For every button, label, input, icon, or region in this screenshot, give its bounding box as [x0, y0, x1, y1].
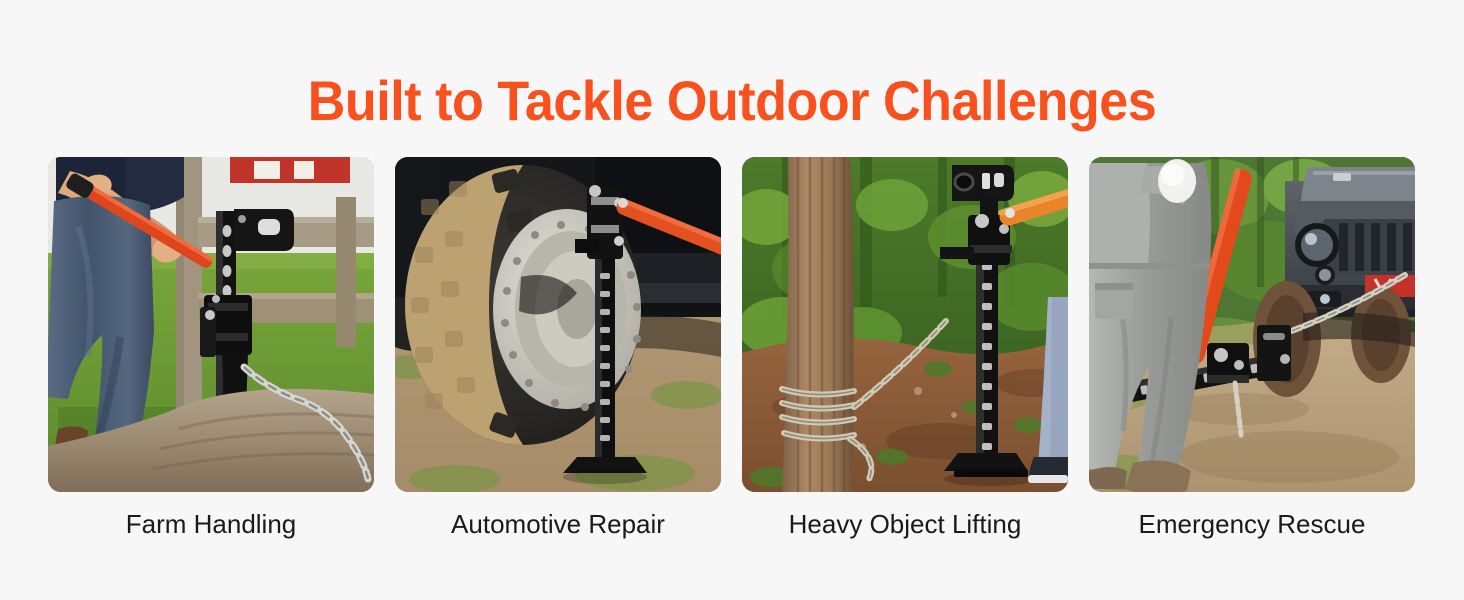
feature-card[interactable]: Farm Handling	[48, 157, 374, 539]
photo-farm-handling	[48, 157, 374, 492]
feature-card-caption: Heavy Object Lifting	[789, 509, 1022, 539]
feature-card[interactable]: Heavy Object Lifting	[742, 157, 1068, 539]
feature-card[interactable]: Automotive Repair	[395, 157, 721, 539]
feature-card-caption: Emergency Rescue	[1139, 509, 1366, 539]
automotive-repair-illustration	[395, 157, 721, 492]
page-title: Built to Tackle Outdoor Challenges	[51, 68, 1413, 134]
feature-card-caption: Farm Handling	[126, 509, 297, 539]
feature-card[interactable]: Emergency Rescue	[1089, 157, 1415, 539]
feature-card-caption: Automotive Repair	[451, 509, 665, 539]
photo-automotive-repair	[395, 157, 721, 492]
photo-emergency-rescue	[1089, 157, 1415, 492]
feature-card-grid: Farm Handling	[48, 157, 1416, 539]
promo-banner: Built to Tackle Outdoor Challenges	[0, 0, 1464, 600]
photo-heavy-object-lifting	[742, 157, 1068, 492]
emergency-rescue-illustration	[1089, 157, 1415, 492]
farm-handling-illustration	[48, 157, 374, 492]
heavy-object-lifting-illustration	[742, 157, 1068, 492]
